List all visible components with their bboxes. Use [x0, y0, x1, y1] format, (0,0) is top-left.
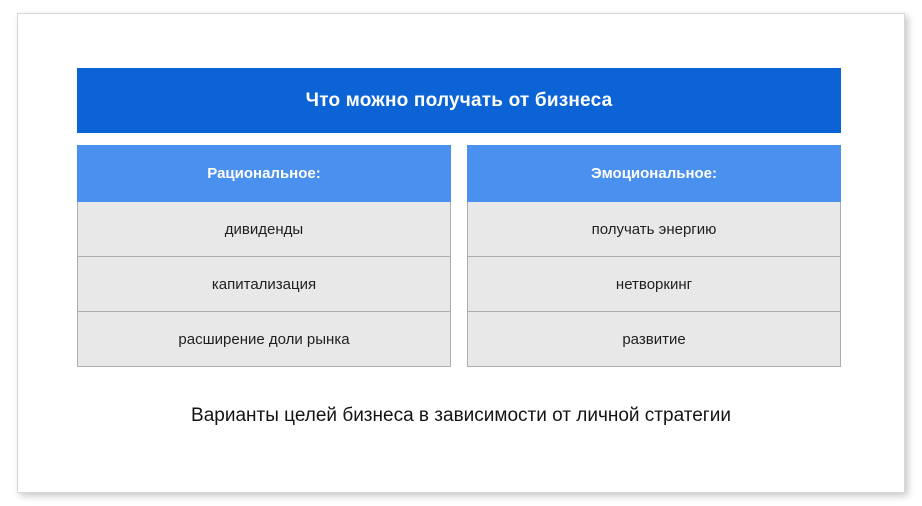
column-emotional: Эмоциональное: получать энергию нетворки… [467, 145, 841, 368]
cell-label: расширение доли рынка [178, 331, 349, 348]
column-rational: Рациональное: дивиденды капитализация ра… [77, 145, 451, 368]
list-item: расширение доли рынка [77, 312, 451, 367]
list-item: капитализация [77, 257, 451, 312]
cell-label: получать энергию [592, 221, 717, 238]
column-header-emotional-label: Эмоциональное: [591, 165, 717, 182]
title-banner: Что можно получать от бизнеса [77, 68, 841, 133]
column-header-emotional: Эмоциональное: [467, 145, 841, 202]
list-item: нетворкинг [467, 257, 841, 312]
cell-label: нетворкинг [616, 276, 692, 293]
slide-title: Что можно получать от бизнеса [306, 90, 613, 112]
columns-container: Рациональное: дивиденды капитализация ра… [77, 145, 841, 368]
cell-label: капитализация [212, 276, 316, 293]
cell-label: развитие [622, 331, 685, 348]
list-item: развитие [467, 312, 841, 367]
list-item: получать энергию [467, 202, 841, 257]
slide-frame: Что можно получать от бизнеса Рациональн… [17, 13, 905, 493]
list-item: дивиденды [77, 202, 451, 257]
column-header-rational-label: Рациональное: [207, 165, 320, 182]
slide-caption-text: Варианты целей бизнеса в зависимости от … [191, 405, 731, 426]
column-header-rational: Рациональное: [77, 145, 451, 202]
cell-label: дивиденды [225, 221, 303, 238]
slide-canvas: Что можно получать от бизнеса Рациональн… [18, 14, 904, 492]
slide-caption: Варианты целей бизнеса в зависимости от … [18, 405, 904, 427]
